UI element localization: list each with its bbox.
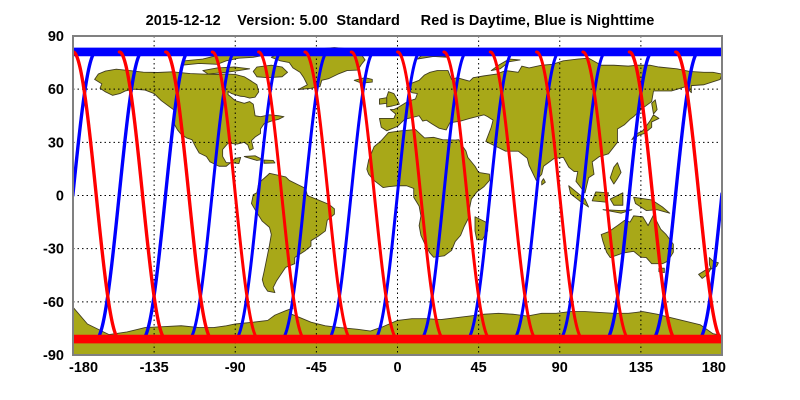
x-axis-tick-label: -135 bbox=[140, 360, 169, 376]
x-axis-tick-label: 45 bbox=[471, 360, 487, 376]
land-polygon bbox=[379, 98, 386, 105]
y-axis-tick-label: -90 bbox=[43, 348, 64, 364]
x-axis-tick-label: 0 bbox=[393, 360, 401, 376]
y-axis-tick-label: 90 bbox=[48, 29, 64, 45]
x-axis-tick-label: 135 bbox=[629, 360, 653, 376]
x-axis-tick-label: 90 bbox=[552, 360, 568, 376]
y-axis-tick-label: 0 bbox=[56, 189, 64, 205]
y-axis-tick-label: 60 bbox=[48, 82, 64, 98]
y-axis-tick-labels: 9060300-30-60-90 bbox=[43, 29, 64, 364]
x-axis-tick-label: -90 bbox=[225, 360, 246, 376]
satellite-ground-track-figure: 2015-12-12 Version: 5.00 Standard Red is… bbox=[0, 0, 800, 400]
y-axis-tick-label: 30 bbox=[48, 135, 64, 151]
y-axis-tick-label: -30 bbox=[43, 242, 64, 258]
ground-track-plot: -180-135-90-4504590135180 9060300-30-60-… bbox=[0, 0, 800, 400]
x-axis-tick-labels: -180-135-90-4504590135180 bbox=[69, 360, 726, 376]
x-axis-tick-label: 180 bbox=[702, 360, 726, 376]
y-axis-tick-label: -60 bbox=[43, 295, 64, 311]
land-polygon bbox=[264, 160, 275, 163]
x-axis-tick-label: -45 bbox=[306, 360, 327, 376]
land-polygon bbox=[253, 65, 287, 77]
x-axis-tick-label: -180 bbox=[69, 360, 98, 376]
